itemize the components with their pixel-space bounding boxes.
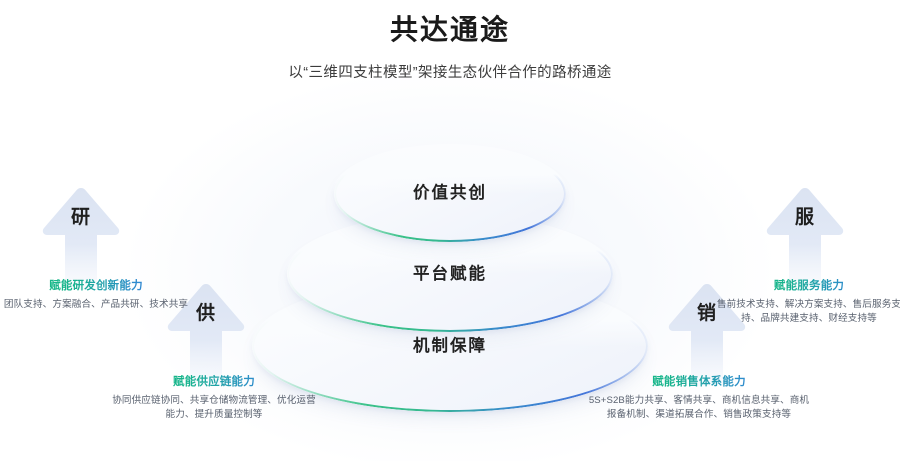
pillar-text-block: 赋能供应链能力 协同供应链协同、共享仓储物流管理、优化运营能力、提升质量控制等 xyxy=(108,374,320,422)
pillar-capability-title: 赋能供应链能力 xyxy=(108,374,320,390)
pillar-text-block: 赋能研发创新能力 团队支持、方案融合、产品共研、技术共享 xyxy=(2,278,190,312)
pillar-capability-title: 赋能服务能力 xyxy=(714,278,900,294)
pillar-yan[interactable]: 研 赋能研发创新能力 团队支持、方案融合、产品共研、技术共享 xyxy=(2,186,190,312)
pillar-description: 5S+S2B能力共享、客情共享、商机信息共享、商机报备机制、渠道拓展合作、销售政… xyxy=(588,394,810,422)
pillar-description: 售前技术支持、解决方案支持、售后服务支持、品牌共建支持、财经支持等 xyxy=(714,298,900,326)
pillar-description: 协同供应链协同、共享仓储物流管理、优化运营能力、提升质量控制等 xyxy=(108,394,320,422)
pillar-text-block: 赋能服务能力 售前技术支持、解决方案支持、售后服务支持、品牌共建支持、财经支持等 xyxy=(714,278,900,326)
pillar-description: 团队支持、方案融合、产品共研、技术共享 xyxy=(2,298,190,312)
pyramid-layer-label: 价值共创 xyxy=(413,179,487,203)
pillar-fu[interactable]: 服 赋能服务能力 售前技术支持、解决方案支持、售后服务支持、品牌共建支持、财经支… xyxy=(714,186,900,326)
arrow-up-icon: 研 xyxy=(40,186,122,290)
pillar-glyph: 服 xyxy=(764,202,846,229)
pillar-capability-title: 赋能研发创新能力 xyxy=(2,278,190,294)
pillar-text-block: 赋能销售体系能力 5S+S2B能力共享、客情共享、商机信息共享、商机报备机制、渠… xyxy=(588,374,810,422)
pyramid-layer-label: 平台赋能 xyxy=(413,260,487,284)
pillar-glyph: 研 xyxy=(40,202,122,229)
arrow-up-icon: 服 xyxy=(764,186,846,290)
infographic-canvas: 共达通途 以“三维四支柱模型”架接生态伙伴合作的路桥通途 机制保障 平台赋能 价… xyxy=(0,0,900,461)
pyramid-layer-top: 价值共创 xyxy=(334,146,566,242)
pillar-capability-title: 赋能销售体系能力 xyxy=(588,374,810,390)
pyramid-layer-label: 机制保障 xyxy=(413,332,487,356)
